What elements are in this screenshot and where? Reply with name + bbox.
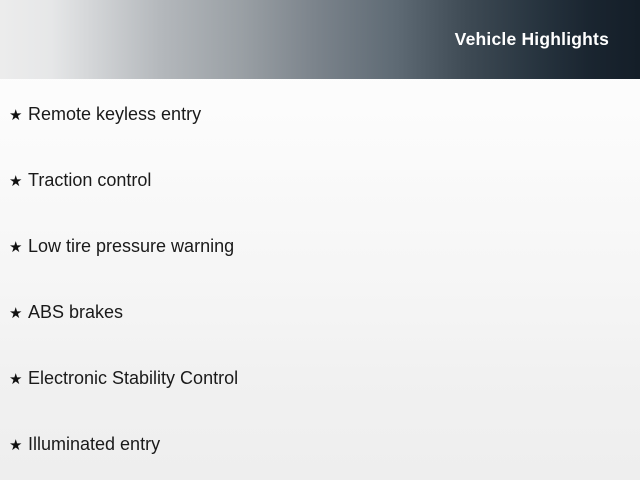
star-icon: ★ [9, 108, 28, 123]
list-item: ★ Traction control [0, 171, 640, 237]
feature-label: Electronic Stability Control [28, 369, 238, 387]
list-item: ★ Illuminated entry [0, 435, 640, 480]
feature-label: Traction control [28, 171, 151, 189]
feature-label: ABS brakes [28, 303, 123, 321]
star-icon: ★ [9, 438, 28, 453]
page-title: Vehicle Highlights [455, 31, 609, 49]
vehicle-highlights-list: ★ Remote keyless entry ★ Traction contro… [0, 79, 640, 480]
feature-label: Low tire pressure warning [28, 237, 234, 255]
feature-label: Illuminated entry [28, 435, 160, 453]
vehicle-highlights-panel: Vehicle Highlights ★ Remote keyless entr… [0, 0, 640, 480]
list-item: ★ Remote keyless entry [0, 79, 640, 171]
star-icon: ★ [9, 372, 28, 387]
header-banner: Vehicle Highlights [0, 0, 640, 79]
list-item: ★ ABS brakes [0, 303, 640, 369]
star-icon: ★ [9, 174, 28, 189]
feature-label: Remote keyless entry [28, 105, 201, 123]
star-icon: ★ [9, 240, 28, 255]
list-item: ★ Low tire pressure warning [0, 237, 640, 303]
list-item: ★ Electronic Stability Control [0, 369, 640, 435]
star-icon: ★ [9, 306, 28, 321]
